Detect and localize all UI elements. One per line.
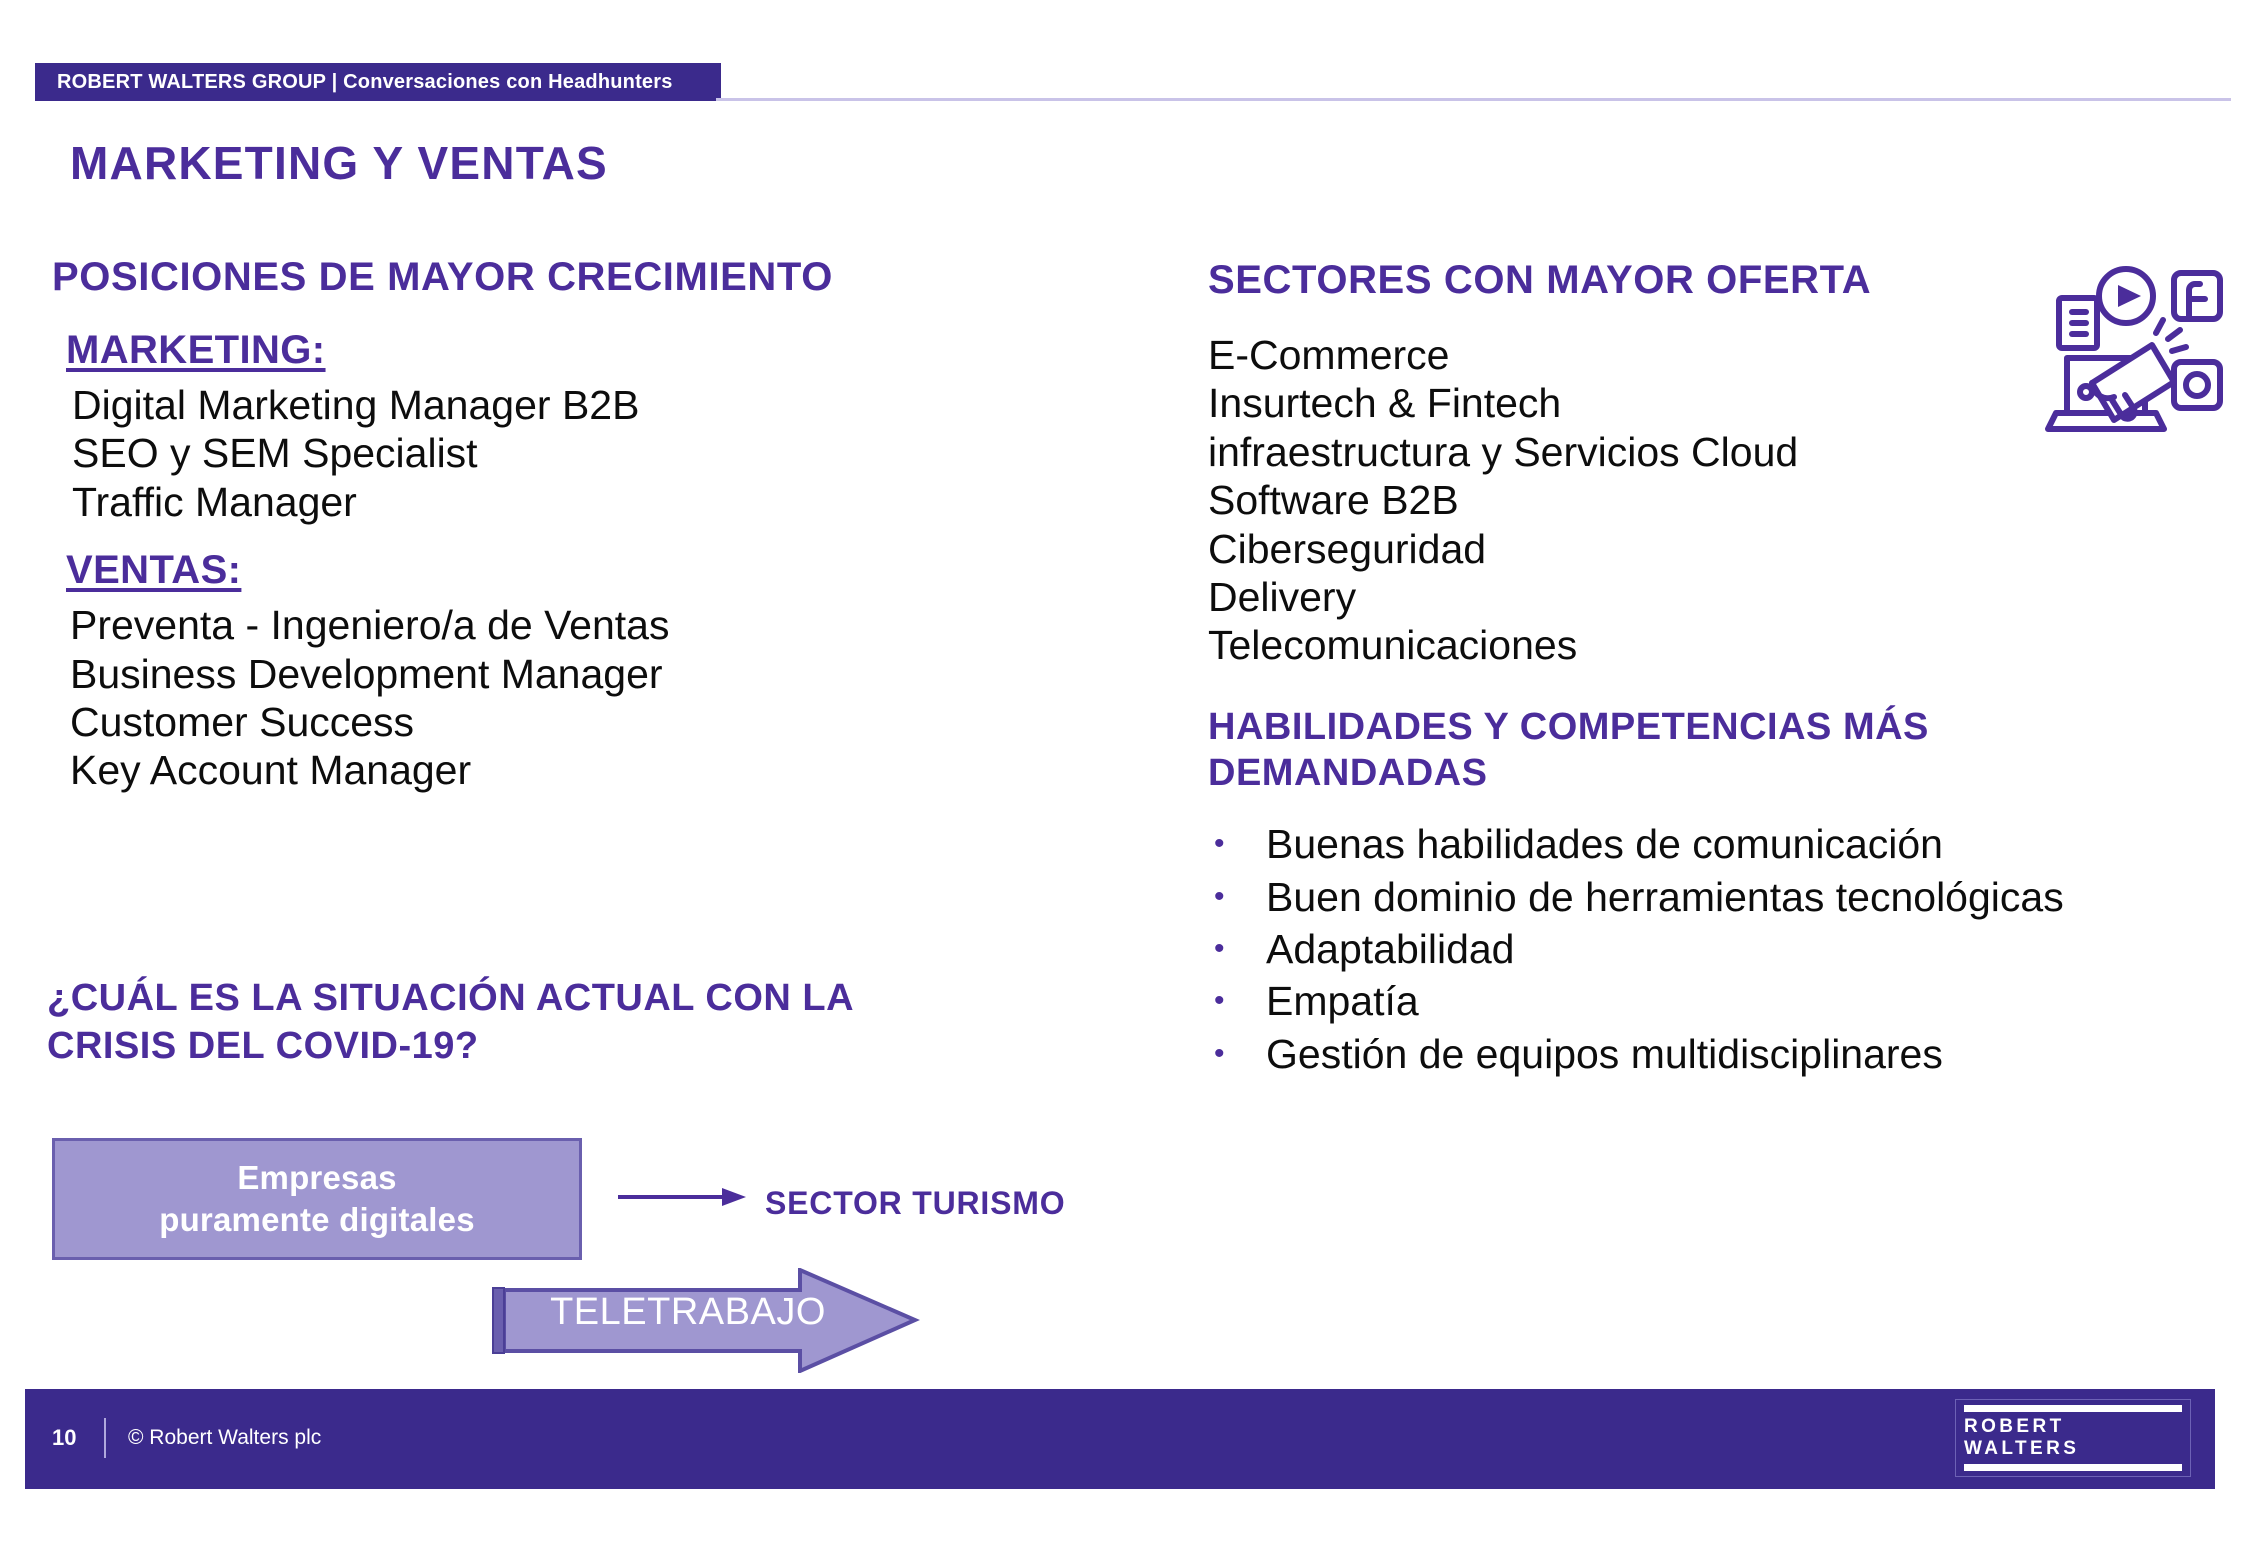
- ventas-subheading: VENTAS:: [66, 548, 1112, 593]
- list-item: Telecomunicaciones: [1208, 621, 2238, 669]
- footer-divider: [104, 1418, 106, 1458]
- list-item-label: Buen dominio de herramientas tecnológica…: [1266, 873, 2064, 921]
- ventas-subsection: VENTAS: Preventa - Ingeniero/a de Ventas…: [66, 548, 1112, 795]
- empresas-box-line-1: Empresas: [237, 1157, 396, 1199]
- list-item: Customer Success: [70, 698, 1112, 746]
- empresas-box-line-2: puramente digitales: [159, 1199, 475, 1241]
- right-arrow-icon: [618, 1182, 748, 1212]
- habilidades-section-heading: HABILIDADES Y COMPETENCIAS MÁS DEMANDADA…: [1208, 704, 2168, 797]
- bullet-icon: •: [1208, 820, 1266, 868]
- list-item: Key Account Manager: [70, 746, 1112, 794]
- robert-walters-logo: ROBERT WALTERS: [1955, 1399, 2191, 1477]
- footer-bar: [25, 1389, 2215, 1489]
- list-item: • Buenas habilidades de comunicación: [1208, 820, 2238, 868]
- page-title: MARKETING Y VENTAS: [70, 136, 608, 190]
- covid-question-heading: ¿CUÁL ES LA SITUACIÓN ACTUAL CON LA CRIS…: [47, 975, 947, 1071]
- list-item-label: Empatía: [1266, 977, 1419, 1025]
- digital-marketing-icon: [2034, 258, 2224, 438]
- footer-page-number: 10: [52, 1425, 76, 1451]
- logo-text: ROBERT WALTERS: [1964, 1412, 2182, 1464]
- positions-section-heading: POSICIONES DE MAYOR CRECIMIENTO: [52, 255, 1112, 300]
- footer-copyright: © Robert Walters plc: [128, 1426, 321, 1450]
- habilidades-items-list: • Buenas habilidades de comunicación • B…: [1208, 820, 2238, 1078]
- marketing-items-list: Digital Marketing Manager B2B SEO y SEM …: [72, 381, 1112, 526]
- list-item: Traffic Manager: [72, 478, 1112, 526]
- marketing-subheading: MARKETING:: [66, 328, 1112, 373]
- list-item: • Adaptabilidad: [1208, 925, 2238, 973]
- list-item: SEO y SEM Specialist: [72, 429, 1112, 477]
- logo-bar-bottom: [1964, 1464, 2182, 1471]
- list-item: Ciberseguridad: [1208, 525, 2238, 573]
- list-item-label: Adaptabilidad: [1266, 925, 1514, 973]
- logo-bar-top: [1964, 1405, 2182, 1412]
- header-divider-rule: [716, 98, 2231, 101]
- list-item: • Buen dominio de herramientas tecnológi…: [1208, 873, 2238, 921]
- list-item-label: Buenas habilidades de comunicación: [1266, 820, 1943, 868]
- sector-turismo-label: SECTOR TURISMO: [765, 1185, 1065, 1222]
- brand-header-label: ROBERT WALTERS GROUP | Conversaciones co…: [57, 71, 673, 94]
- bullet-icon: •: [1208, 873, 1266, 921]
- bullet-icon: •: [1208, 925, 1266, 973]
- list-item: Business Development Manager: [70, 650, 1112, 698]
- list-item: Software B2B: [1208, 476, 2238, 524]
- list-item: Preventa - Ingeniero/a de Ventas: [70, 601, 1112, 649]
- ventas-items-list: Preventa - Ingeniero/a de Ventas Busines…: [70, 601, 1112, 795]
- list-item: • Gestión de equipos multidisciplinares: [1208, 1030, 2238, 1078]
- list-item: Digital Marketing Manager B2B: [72, 381, 1112, 429]
- bullet-icon: •: [1208, 1030, 1266, 1078]
- teletrabajo-arrow-shape: [490, 1268, 920, 1373]
- bullet-icon: •: [1208, 977, 1266, 1025]
- marketing-subsection: MARKETING: Digital Marketing Manager B2B…: [66, 328, 1112, 526]
- list-item-label: Gestión de equipos multidisciplinares: [1266, 1030, 1943, 1078]
- left-column: POSICIONES DE MAYOR CRECIMIENTO MARKETIN…: [52, 255, 1112, 795]
- empresas-digitales-box: Empresas puramente digitales: [52, 1138, 582, 1260]
- brand-header-bar: ROBERT WALTERS GROUP | Conversaciones co…: [35, 63, 721, 101]
- list-item: Delivery: [1208, 573, 2238, 621]
- list-item: • Empatía: [1208, 977, 2238, 1025]
